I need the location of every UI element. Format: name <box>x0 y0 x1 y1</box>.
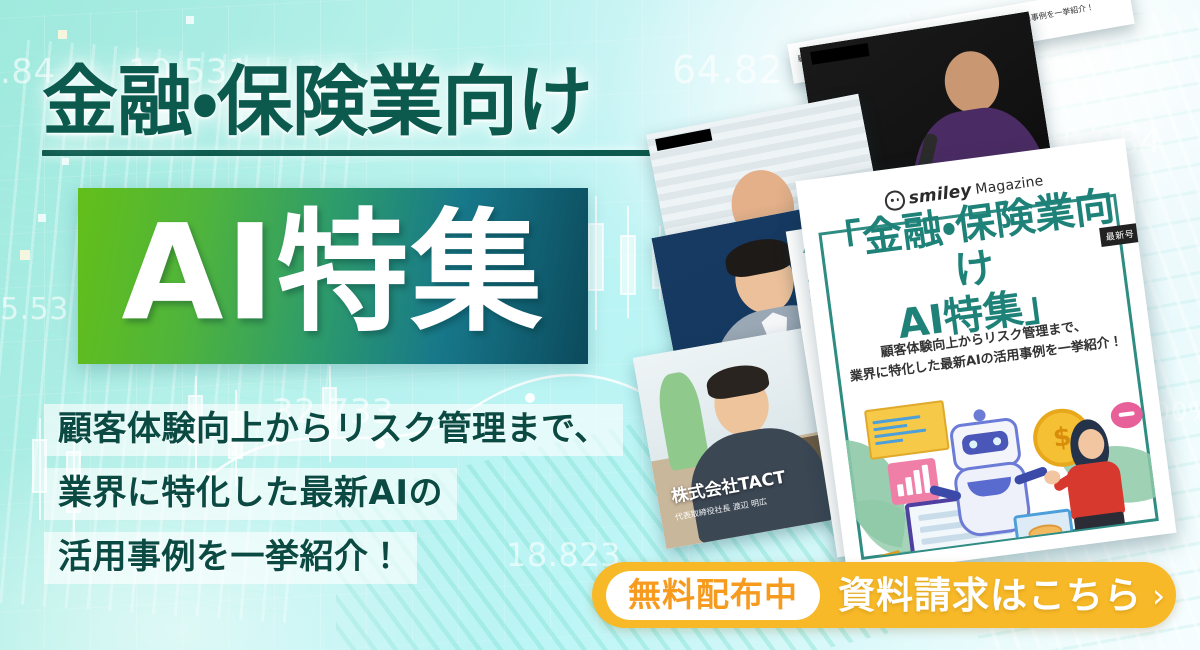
card-label-chip <box>810 43 869 65</box>
woman-skirt-illustration <box>1074 511 1130 558</box>
title-box: AI特集 <box>78 188 588 364</box>
page-title: AI特集 <box>78 207 588 339</box>
magazine-cover: smiley Magazine 最新号 「金融・保険業向け AI特集」 顧客体験… <box>795 138 1176 576</box>
subtitle-block: 顧客体験向上からリスク管理まで、 業界に特化した最新AIの 活用事例を一挙紹介！ <box>44 404 623 596</box>
bar-chart-card-illustration <box>887 458 940 506</box>
page-headline: 金融・保険業向け <box>42 64 682 140</box>
woman-top-illustration <box>1065 460 1126 521</box>
subtitle-line-1: 顧客体験向上からリスク管理まで、 <box>44 404 623 456</box>
person-head <box>940 47 1003 117</box>
chevron-right-icon: › <box>1152 579 1166 612</box>
cta-label-wrap: 資料請求はこちら › <box>838 577 1166 614</box>
headline-block: 金融・保険業向け <box>42 64 682 156</box>
headline-underline <box>42 150 666 156</box>
banner-content: 金融・保険業向け AI特集 顧客体験向上からリスク管理まで、 業界に特化した最新… <box>0 0 700 650</box>
woman-leg-illustration <box>1109 556 1123 558</box>
promo-banner: 10.531.8464.8270.08432.7332.50918.8235.5… <box>0 0 1200 650</box>
subtitle-row: 活用事例を一挙紹介！ <box>44 532 623 596</box>
cta-button[interactable]: 無料配布中 資料請求はこちら › <box>592 562 1176 628</box>
cta-label: 資料請求はこちら <box>838 577 1142 614</box>
smiley-face-icon <box>884 189 906 211</box>
coin-card-illustration <box>1013 508 1078 558</box>
cta-badge: 無料配布中 <box>606 571 820 620</box>
subtitle-row: 顧客体験向上からリスク管理まで、 <box>44 404 623 468</box>
subtitle-line-3: 活用事例を一挙紹介！ <box>44 532 417 584</box>
window-card-illustration <box>864 400 950 460</box>
subtitle-row: 業界に特化した最新AIの <box>44 468 623 532</box>
subtitle-line-2: 業界に特化した最新AIの <box>44 468 457 520</box>
magazine-collage: 顧客体験向上からリスク管理まで、業界に特化した最新 AI の活用事例を一挙紹介！… <box>620 0 1200 650</box>
